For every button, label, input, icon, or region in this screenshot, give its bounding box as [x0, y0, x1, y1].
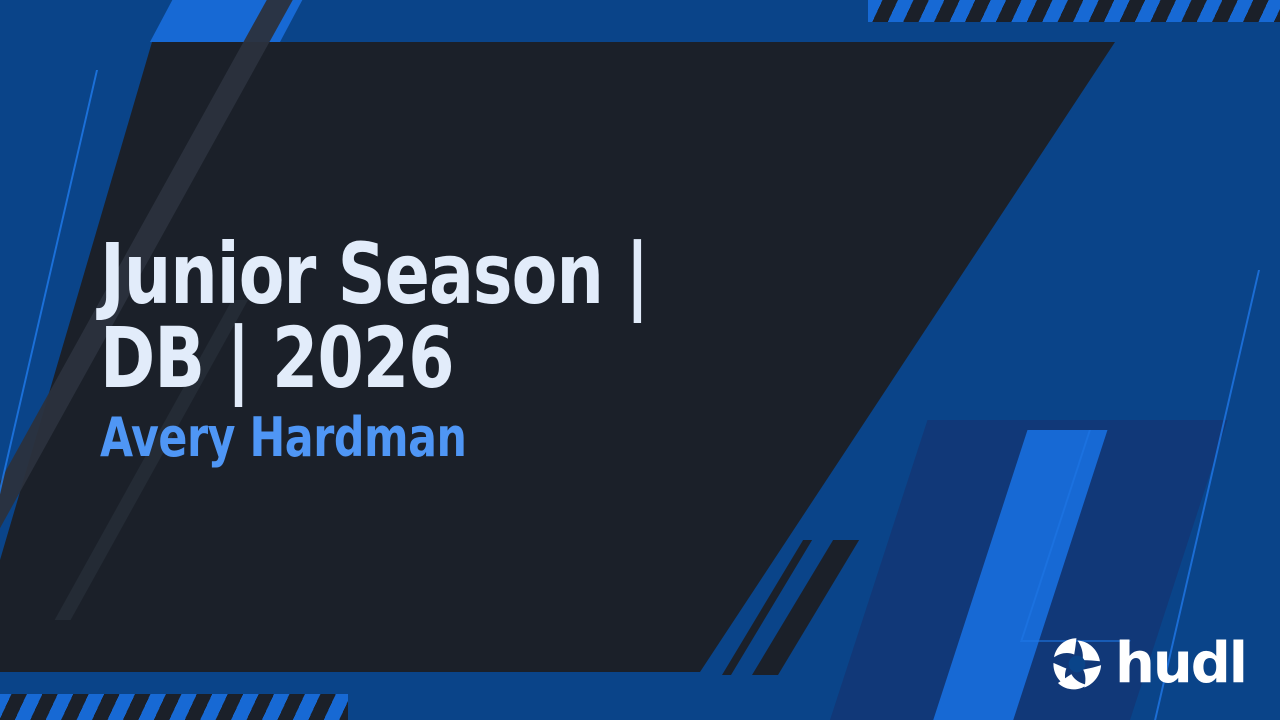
- slide-title: Junior Season | DB | 2026: [100, 232, 769, 400]
- hudl-wordmark: hudl: [1115, 636, 1246, 692]
- athlete-name: Avery Hardman: [100, 410, 769, 466]
- hatch-stripes-top-right: [868, 0, 1280, 22]
- hudl-mark-icon: [1049, 636, 1105, 692]
- title-text-block: Junior Season | DB | 2026 Avery Hardman: [100, 232, 860, 466]
- highlight-reel-title-slide: Junior Season | DB | 2026 Avery Hardman …: [0, 0, 1280, 720]
- hudl-logo: hudl: [1049, 636, 1246, 692]
- hatch-stripes-bottom-left: [0, 694, 348, 720]
